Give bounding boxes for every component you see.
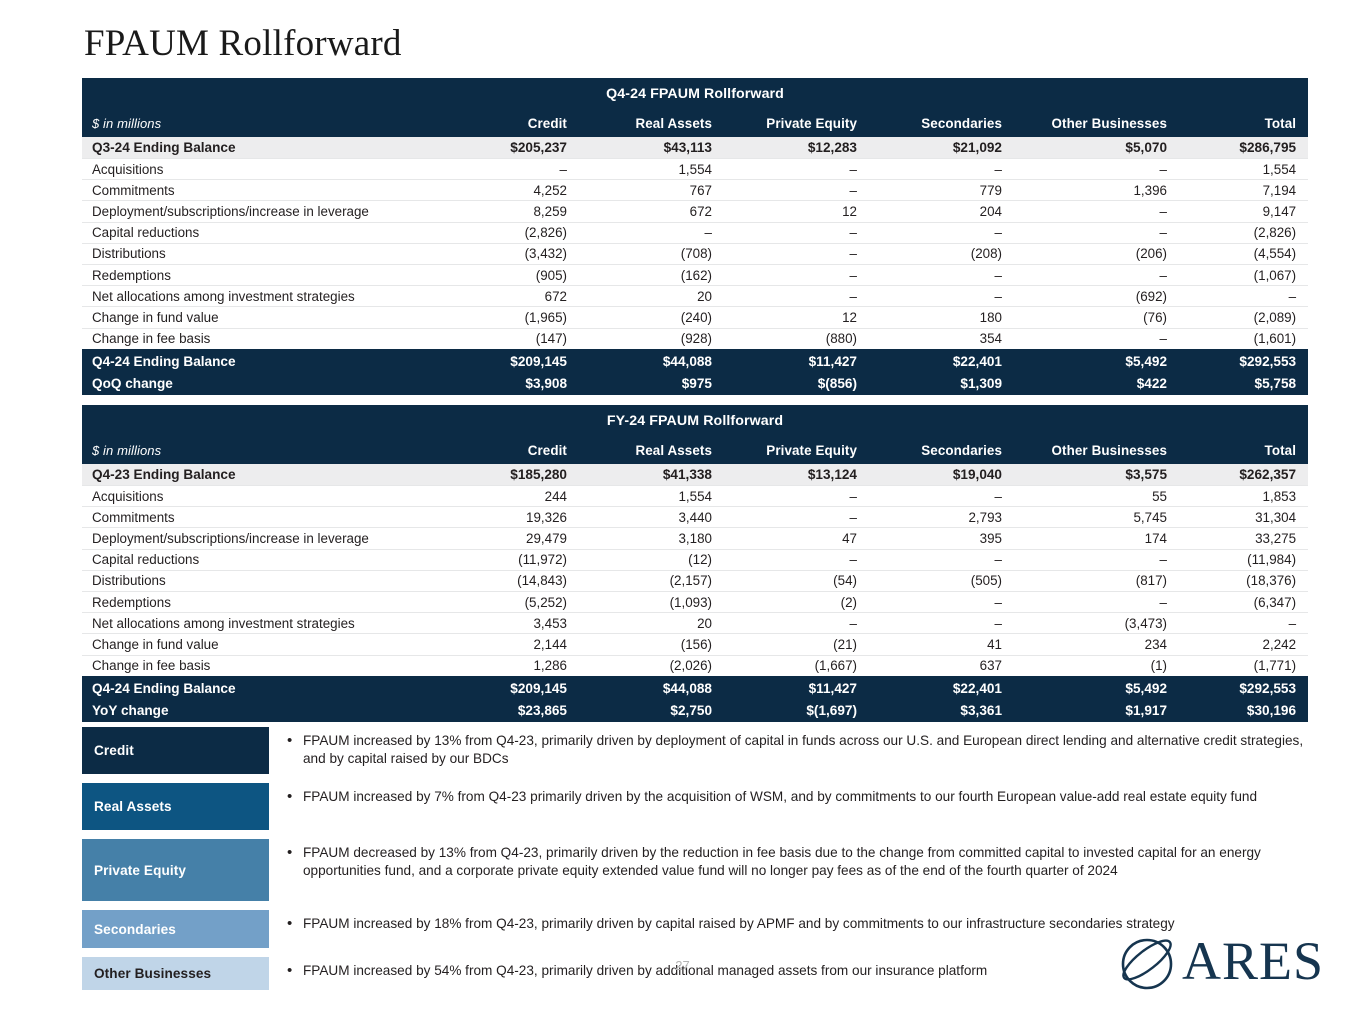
cell-real-assets: (1,093) <box>579 591 724 612</box>
cell-private-equity: $11,427 <box>724 676 869 699</box>
cell-credit: $185,280 <box>434 464 579 486</box>
cell-total: (18,376) <box>1179 570 1308 591</box>
cell-other-businesses: $422 <box>1014 372 1179 395</box>
cell-secondaries: $19,040 <box>869 464 1014 486</box>
bullet-text: FPAUM increased by 18% from Q4-23, prima… <box>303 915 1175 933</box>
category-label-real-assets: Real Assets <box>82 783 269 830</box>
cell-private-equity: $11,427 <box>724 349 869 372</box>
cell-real-assets: $44,088 <box>579 676 724 699</box>
cell-private-equity: – <box>724 180 869 201</box>
row-label: Acquisitions <box>82 486 434 507</box>
table-row: Commitments 4,252 767 – 779 1,396 7,194 <box>82 180 1308 201</box>
cell-private-equity: $(856) <box>724 372 869 395</box>
cell-private-equity: $12,283 <box>724 137 869 159</box>
table-row: Deployment/subscriptions/increase in lev… <box>82 201 1308 222</box>
cell-credit: $23,865 <box>434 699 579 722</box>
cell-private-equity: 12 <box>724 201 869 222</box>
cell-credit: (147) <box>434 328 579 349</box>
cell-total: – <box>1179 286 1308 307</box>
row-label: Distributions <box>82 570 434 591</box>
cell-credit: 4,252 <box>434 180 579 201</box>
cell-real-assets: 672 <box>579 201 724 222</box>
cell-secondaries: – <box>869 486 1014 507</box>
cell-secondaries: 41 <box>869 634 1014 655</box>
cell-private-equity: 12 <box>724 307 869 328</box>
page-title: FPAUM Rollforward <box>84 22 402 65</box>
cell-total: (4,554) <box>1179 243 1308 264</box>
column-header-credit: Credit <box>434 110 579 137</box>
bullet-text: FPAUM decreased by 13% from Q4-23, prima… <box>303 844 1310 879</box>
table-row: Redemptions (5,252) (1,093) (2) – – (6,3… <box>82 591 1308 612</box>
cell-credit: 8,259 <box>434 201 579 222</box>
cell-other-businesses: 1,396 <box>1014 180 1179 201</box>
cell-other-businesses: (1) <box>1014 655 1179 676</box>
cell-private-equity: – <box>724 159 869 180</box>
column-header-secondaries: Secondaries <box>869 110 1014 137</box>
cell-real-assets: (12) <box>579 549 724 570</box>
cell-private-equity: (880) <box>724 328 869 349</box>
row-label: Redemptions <box>82 591 434 612</box>
cell-real-assets: (162) <box>579 264 724 285</box>
cell-other-businesses: 55 <box>1014 486 1179 507</box>
cell-private-equity: – <box>724 613 869 634</box>
row-label: Q4-24 Ending Balance <box>82 676 434 699</box>
table-q4-24-rollforward: Q4-24 FPAUM Rollforward $ in millions Cr… <box>82 78 1308 395</box>
column-header-private-equity: Private Equity <box>724 437 869 464</box>
table-row: Acquisitions – 1,554 – – – 1,554 <box>82 159 1308 180</box>
cell-real-assets: 3,180 <box>579 528 724 549</box>
cell-private-equity: – <box>724 264 869 285</box>
cell-real-assets: (240) <box>579 307 724 328</box>
row-label: Acquisitions <box>82 159 434 180</box>
commentary-row-credit: Credit • FPAUM increased by 13% from Q4-… <box>82 727 1310 774</box>
table-banner-label: FY-24 FPAUM Rollforward <box>82 405 1308 437</box>
cell-credit: $209,145 <box>434 676 579 699</box>
ares-mark-icon <box>1118 930 1176 992</box>
bullet-real-assets: • FPAUM increased by 7% from Q4-23 prima… <box>269 783 1310 806</box>
bullet-marker-icon: • <box>287 915 303 933</box>
cell-secondaries: – <box>869 159 1014 180</box>
table-row-opening-balance: Q3-24 Ending Balance $205,237 $43,113 $1… <box>82 137 1308 159</box>
table-row-ending-balance: Q4-24 Ending Balance $209,145 $44,088 $1… <box>82 349 1308 372</box>
cell-private-equity: (2) <box>724 591 869 612</box>
cell-total: (2,826) <box>1179 222 1308 243</box>
cell-other-businesses: (206) <box>1014 243 1179 264</box>
bullet-credit: • FPAUM increased by 13% from Q4-23, pri… <box>269 727 1310 767</box>
cell-private-equity: – <box>724 549 869 570</box>
cell-secondaries: 637 <box>869 655 1014 676</box>
cell-other-businesses: $5,492 <box>1014 676 1179 699</box>
row-label: Redemptions <box>82 264 434 285</box>
cell-other-businesses: (3,473) <box>1014 613 1179 634</box>
cell-total: $292,553 <box>1179 676 1308 699</box>
cell-real-assets: 20 <box>579 286 724 307</box>
cell-real-assets: $43,113 <box>579 137 724 159</box>
cell-credit: (5,252) <box>434 591 579 612</box>
commentary-row-real-assets: Real Assets • FPAUM increased by 7% from… <box>82 783 1310 830</box>
cell-credit: (905) <box>434 264 579 285</box>
cell-secondaries: 354 <box>869 328 1014 349</box>
cell-other-businesses: $3,575 <box>1014 464 1179 486</box>
row-label: Commitments <box>82 507 434 528</box>
cell-secondaries: $3,361 <box>869 699 1014 722</box>
cell-secondaries: – <box>869 549 1014 570</box>
cell-private-equity: – <box>724 486 869 507</box>
table-row: Deployment/subscriptions/increase in lev… <box>82 528 1308 549</box>
row-label: Change in fund value <box>82 307 434 328</box>
cell-other-businesses: 174 <box>1014 528 1179 549</box>
column-header-real-assets: Real Assets <box>579 437 724 464</box>
cell-real-assets: $2,750 <box>579 699 724 722</box>
cell-total: 2,242 <box>1179 634 1308 655</box>
cell-real-assets: (2,157) <box>579 570 724 591</box>
row-label: Capital reductions <box>82 222 434 243</box>
table-row: Acquisitions 244 1,554 – – 55 1,853 <box>82 486 1308 507</box>
column-header-other-businesses: Other Businesses <box>1014 110 1179 137</box>
table-row-qoq-change: QoQ change $3,908 $975 $(856) $1,309 $42… <box>82 372 1308 395</box>
row-label: Distributions <box>82 243 434 264</box>
cell-total: $5,758 <box>1179 372 1308 395</box>
cell-real-assets: (928) <box>579 328 724 349</box>
cell-credit: 244 <box>434 486 579 507</box>
cell-total: $292,553 <box>1179 349 1308 372</box>
cell-total: (6,347) <box>1179 591 1308 612</box>
commentary-row-private-equity: Private Equity • FPAUM decreased by 13% … <box>82 839 1310 901</box>
cell-credit: 3,453 <box>434 613 579 634</box>
cell-total: 7,194 <box>1179 180 1308 201</box>
cell-secondaries: 779 <box>869 180 1014 201</box>
cell-real-assets: $44,088 <box>579 349 724 372</box>
cell-secondaries: $21,092 <box>869 137 1014 159</box>
cell-private-equity: $13,124 <box>724 464 869 486</box>
cell-other-businesses: (76) <box>1014 307 1179 328</box>
table-row-ending-balance: Q4-24 Ending Balance $209,145 $44,088 $1… <box>82 676 1308 699</box>
cell-credit: 2,144 <box>434 634 579 655</box>
row-label: Deployment/subscriptions/increase in lev… <box>82 201 434 222</box>
cell-total: 9,147 <box>1179 201 1308 222</box>
cell-credit: 672 <box>434 286 579 307</box>
cell-other-businesses: – <box>1014 328 1179 349</box>
cell-other-businesses: – <box>1014 264 1179 285</box>
row-label: Capital reductions <box>82 549 434 570</box>
cell-credit: 19,326 <box>434 507 579 528</box>
cell-real-assets: – <box>579 222 724 243</box>
table-row: Capital reductions (2,826) – – – – (2,82… <box>82 222 1308 243</box>
column-header-total: Total <box>1179 437 1308 464</box>
cell-total: (1,771) <box>1179 655 1308 676</box>
cell-private-equity: $(1,697) <box>724 699 869 722</box>
cell-total: (11,984) <box>1179 549 1308 570</box>
column-header-real-assets: Real Assets <box>579 110 724 137</box>
cell-real-assets: 1,554 <box>579 159 724 180</box>
cell-total: $286,795 <box>1179 137 1308 159</box>
category-label-secondaries: Secondaries <box>82 910 269 948</box>
cell-real-assets: 20 <box>579 613 724 634</box>
table-row: Distributions (14,843) (2,157) (54) (505… <box>82 570 1308 591</box>
row-label: YoY change <box>82 699 434 722</box>
table-row: Capital reductions (11,972) (12) – – – (… <box>82 549 1308 570</box>
table-row: Change in fee basis (147) (928) (880) 35… <box>82 328 1308 349</box>
cell-real-assets: $41,338 <box>579 464 724 486</box>
column-header-private-equity: Private Equity <box>724 110 869 137</box>
units-label: $ in millions <box>82 437 434 464</box>
table-banner-label: Q4-24 FPAUM Rollforward <box>82 78 1308 110</box>
cell-other-businesses: – <box>1014 201 1179 222</box>
cell-real-assets: $975 <box>579 372 724 395</box>
cell-credit: (14,843) <box>434 570 579 591</box>
cell-credit: (11,972) <box>434 549 579 570</box>
cell-secondaries: 204 <box>869 201 1014 222</box>
cell-other-businesses: – <box>1014 159 1179 180</box>
cell-credit: 1,286 <box>434 655 579 676</box>
table-row: Net allocations among investment strateg… <box>82 286 1308 307</box>
table-column-headers: $ in millions Credit Real Assets Private… <box>82 437 1308 464</box>
cell-total: $262,357 <box>1179 464 1308 486</box>
bullet-private-equity: • FPAUM decreased by 13% from Q4-23, pri… <box>269 839 1310 879</box>
column-header-total: Total <box>1179 110 1308 137</box>
row-label: Q3-24 Ending Balance <box>82 137 434 159</box>
cell-credit: (2,826) <box>434 222 579 243</box>
row-label: Change in fund value <box>82 634 434 655</box>
units-label: $ in millions <box>82 110 434 137</box>
row-label: Q4-24 Ending Balance <box>82 349 434 372</box>
cell-total: 1,853 <box>1179 486 1308 507</box>
cell-secondaries: – <box>869 222 1014 243</box>
cell-secondaries: – <box>869 264 1014 285</box>
table-row: Commitments 19,326 3,440 – 2,793 5,745 3… <box>82 507 1308 528</box>
cell-secondaries: 2,793 <box>869 507 1014 528</box>
cell-secondaries: $1,309 <box>869 372 1014 395</box>
cell-real-assets: 767 <box>579 180 724 201</box>
row-label: Commitments <box>82 180 434 201</box>
cell-private-equity: – <box>724 222 869 243</box>
cell-secondaries: (505) <box>869 570 1014 591</box>
cell-private-equity: (21) <box>724 634 869 655</box>
table-banner: FY-24 FPAUM Rollforward <box>82 405 1308 437</box>
ares-wordmark: ARES <box>1182 934 1324 988</box>
cell-real-assets: 1,554 <box>579 486 724 507</box>
cell-private-equity: – <box>724 286 869 307</box>
column-header-other-businesses: Other Businesses <box>1014 437 1179 464</box>
cell-other-businesses: $1,917 <box>1014 699 1179 722</box>
table-row: Change in fund value 2,144 (156) (21) 41… <box>82 634 1308 655</box>
table-row: Change in fund value (1,965) (240) 12 18… <box>82 307 1308 328</box>
table-row: Distributions (3,432) (708) – (208) (206… <box>82 243 1308 264</box>
cell-other-businesses: $5,492 <box>1014 349 1179 372</box>
cell-credit: (3,432) <box>434 243 579 264</box>
column-header-credit: Credit <box>434 437 579 464</box>
cell-other-businesses: – <box>1014 222 1179 243</box>
table-row: Change in fee basis 1,286 (2,026) (1,667… <box>82 655 1308 676</box>
cell-secondaries: (208) <box>869 243 1014 264</box>
cell-total: 33,275 <box>1179 528 1308 549</box>
row-label: Net allocations among investment strateg… <box>82 613 434 634</box>
ares-logo: ARES <box>1118 930 1324 992</box>
cell-total: 31,304 <box>1179 507 1308 528</box>
cell-total: 1,554 <box>1179 159 1308 180</box>
cell-other-businesses: (817) <box>1014 570 1179 591</box>
cell-secondaries: $22,401 <box>869 349 1014 372</box>
cell-real-assets: (156) <box>579 634 724 655</box>
category-label-private-equity: Private Equity <box>82 839 269 901</box>
row-label: Q4-23 Ending Balance <box>82 464 434 486</box>
cell-secondaries: 180 <box>869 307 1014 328</box>
cell-total: (1,067) <box>1179 264 1308 285</box>
cell-other-businesses: – <box>1014 591 1179 612</box>
cell-other-businesses: 234 <box>1014 634 1179 655</box>
cell-private-equity: – <box>724 507 869 528</box>
column-header-secondaries: Secondaries <box>869 437 1014 464</box>
cell-credit: (1,965) <box>434 307 579 328</box>
row-label: Change in fee basis <box>82 328 434 349</box>
cell-total: – <box>1179 613 1308 634</box>
cell-other-businesses: (692) <box>1014 286 1179 307</box>
cell-secondaries: – <box>869 591 1014 612</box>
bullet-text: FPAUM increased by 13% from Q4-23, prima… <box>303 732 1310 767</box>
cell-private-equity: (54) <box>724 570 869 591</box>
row-label: Net allocations among investment strateg… <box>82 286 434 307</box>
cell-other-businesses: $5,070 <box>1014 137 1179 159</box>
cell-secondaries: – <box>869 613 1014 634</box>
cell-real-assets: (2,026) <box>579 655 724 676</box>
cell-credit: – <box>434 159 579 180</box>
table-column-headers: $ in millions Credit Real Assets Private… <box>82 110 1308 137</box>
cell-secondaries: 395 <box>869 528 1014 549</box>
category-label-credit: Credit <box>82 727 269 774</box>
table-row-yoy-change: YoY change $23,865 $2,750 $(1,697) $3,36… <box>82 699 1308 722</box>
cell-credit: $3,908 <box>434 372 579 395</box>
cell-other-businesses: 5,745 <box>1014 507 1179 528</box>
cell-secondaries: $22,401 <box>869 676 1014 699</box>
cell-credit: $205,237 <box>434 137 579 159</box>
cell-private-equity: (1,667) <box>724 655 869 676</box>
row-label: Deployment/subscriptions/increase in lev… <box>82 528 434 549</box>
bullet-text: FPAUM increased by 7% from Q4-23 primari… <box>303 788 1257 806</box>
cell-private-equity: – <box>724 243 869 264</box>
table-row: Redemptions (905) (162) – – – (1,067) <box>82 264 1308 285</box>
table-fy-24-rollforward: FY-24 FPAUM Rollforward $ in millions Cr… <box>82 405 1308 722</box>
bullet-marker-icon: • <box>287 788 303 806</box>
cell-real-assets: 3,440 <box>579 507 724 528</box>
table-banner: Q4-24 FPAUM Rollforward <box>82 78 1308 110</box>
table-row-opening-balance: Q4-23 Ending Balance $185,280 $41,338 $1… <box>82 464 1308 486</box>
cell-total: (1,601) <box>1179 328 1308 349</box>
row-label: QoQ change <box>82 372 434 395</box>
cell-total: (2,089) <box>1179 307 1308 328</box>
bullet-marker-icon: • <box>287 844 303 879</box>
cell-real-assets: (708) <box>579 243 724 264</box>
table-row: Net allocations among investment strateg… <box>82 613 1308 634</box>
row-label: Change in fee basis <box>82 655 434 676</box>
bullet-marker-icon: • <box>287 732 303 767</box>
cell-credit: 29,479 <box>434 528 579 549</box>
cell-other-businesses: – <box>1014 549 1179 570</box>
cell-secondaries: – <box>869 286 1014 307</box>
cell-total: $30,196 <box>1179 699 1308 722</box>
cell-private-equity: 47 <box>724 528 869 549</box>
cell-credit: $209,145 <box>434 349 579 372</box>
